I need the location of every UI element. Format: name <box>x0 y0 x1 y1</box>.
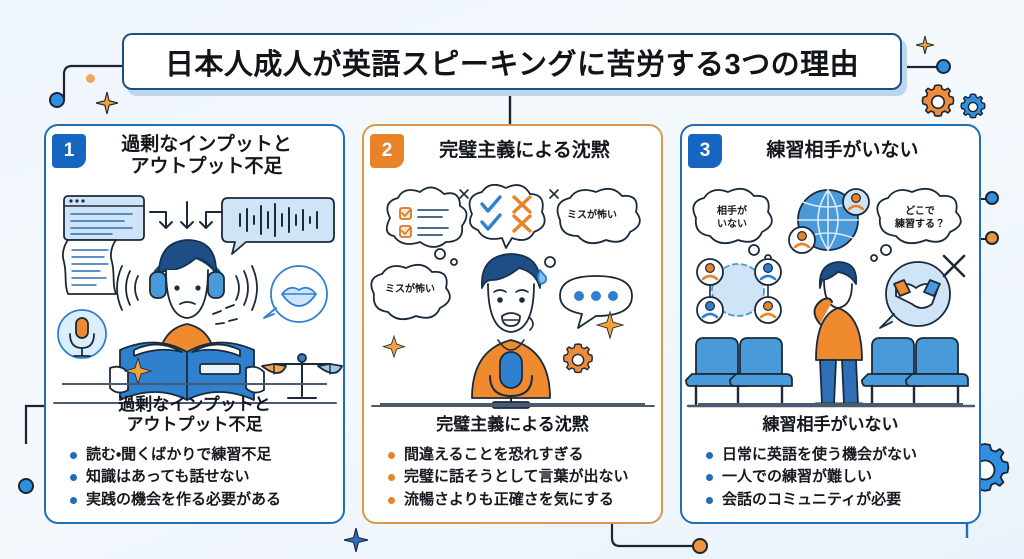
card-3-illustration: 相手が いない どこで 練習する？ <box>682 184 979 412</box>
card-1-body-title: 過剰なインプットと アウトプット不足 <box>60 395 329 436</box>
reason-card-1[interactable]: 1 過剰なインプットと アウトプット不足 <box>44 124 345 524</box>
dot-orange-right-lower <box>985 231 999 245</box>
card-2-illustration: ミスが怖い ミスが怖い <box>364 184 661 412</box>
dot-blue-top-left <box>49 92 65 108</box>
list-item: 知識はあっても話せない <box>70 466 329 489</box>
sparkle-orange-top-left-icon <box>96 92 118 119</box>
sparkle-orange-top-right-icon <box>916 36 934 59</box>
card-3-divider <box>698 403 963 405</box>
gear-orange-icon <box>918 82 958 122</box>
card-3-title: 練習相手がいない <box>722 126 979 162</box>
card-3-header: 3 練習相手がいない <box>682 126 979 184</box>
connector-line-top-left <box>56 62 132 102</box>
card-1-illustration <box>46 184 343 412</box>
card-2-number-badge: 2 <box>370 134 404 168</box>
list-item: 一人での練習が難しい <box>706 466 965 489</box>
dot-orange-bottom-center <box>692 538 708 554</box>
card-2-divider <box>380 403 645 405</box>
list-item: 実践の機会を作る必要がある <box>70 489 329 512</box>
card-3-bullet-list: 日常に英語を使う機会がない 一人での練習が難しい 会話のコミュニティが必要 <box>696 444 965 512</box>
card-3-body-title: 練習相手がいない <box>696 415 965 435</box>
card-1-title: 過剰なインプットと アウトプット不足 <box>86 126 343 179</box>
page-title: 日本人成人が英語スピーキングに苦労する3つの理由 <box>122 33 902 90</box>
card-2-bullet-list: 間違えることを恐れすぎる 完璧に話そうとして言葉が出ない 流暢さよりも正確さを気… <box>378 444 647 512</box>
list-item: 日常に英語を使う機会がない <box>706 444 965 467</box>
card-1-number-badge: 1 <box>52 134 86 168</box>
card-2-bubble-text-1: ミスが怖い <box>554 210 630 223</box>
card-1-header: 1 過剰なインプットと アウトプット不足 <box>46 126 343 184</box>
card-2-body-title: 完璧主義による沈黙 <box>378 415 647 435</box>
dot-blue-bottom-left <box>18 478 34 494</box>
reason-card-3[interactable]: 3 練習相手がいない <box>680 124 981 524</box>
card-3-body: 練習相手がいない 日常に英語を使う機会がない 一人での練習が難しい 会話のコミュ… <box>682 403 979 522</box>
list-item: 完璧に話そうとして言葉が出ない <box>388 466 647 489</box>
dot-small-orange-top-left <box>86 74 95 83</box>
card-1-divider <box>62 383 327 385</box>
card-2-title: 完璧主義による沈黙 <box>404 126 661 162</box>
card-2-bubble-text-2: ミスが怖い <box>372 284 448 297</box>
reason-card-2[interactable]: 2 完璧主義による沈黙 <box>362 124 663 524</box>
gear-blue-icon <box>958 92 988 122</box>
card-2-body: 完璧主義による沈黙 間違えることを恐れすぎる 完璧に話そうとして言葉が出ない 流… <box>364 403 661 522</box>
list-item: 読む・聞くばかりで練習不足 <box>70 444 329 467</box>
list-item: 流暢さよりも正確さを気にする <box>388 489 647 512</box>
card-3-bubble-text-1: 相手が いない <box>694 206 770 231</box>
dot-blue-top-right <box>936 59 951 74</box>
infographic-canvas: 日本人成人が英語スピーキングに苦労する3つの理由 1 過剰なインプットと アウト… <box>0 0 1024 559</box>
card-3-bubble-text-2: どこで 練習する？ <box>880 206 960 231</box>
card-1-body: 過剰なインプットと アウトプット不足 読む・聞くばかりで練習不足 知識はあっても… <box>46 383 343 522</box>
card-2-header: 2 完璧主義による沈黙 <box>364 126 661 184</box>
card-1-bullet-list: 読む・聞くばかりで練習不足 知識はあっても話せない 実践の機会を作る必要がある <box>60 444 329 512</box>
dot-blue-right-upper <box>985 191 999 205</box>
title-box: 日本人成人が英語スピーキングに苦労する3つの理由 <box>122 33 902 90</box>
sparkle-blue-bottom-icon <box>344 528 368 557</box>
list-item: 間違えることを恐れすぎる <box>388 444 647 467</box>
title-text: 日本人成人が英語スピーキングに苦労する3つの理由 <box>165 41 859 83</box>
card-3-number-badge: 3 <box>688 134 722 168</box>
list-item: 会話のコミュニティが必要 <box>706 489 965 512</box>
